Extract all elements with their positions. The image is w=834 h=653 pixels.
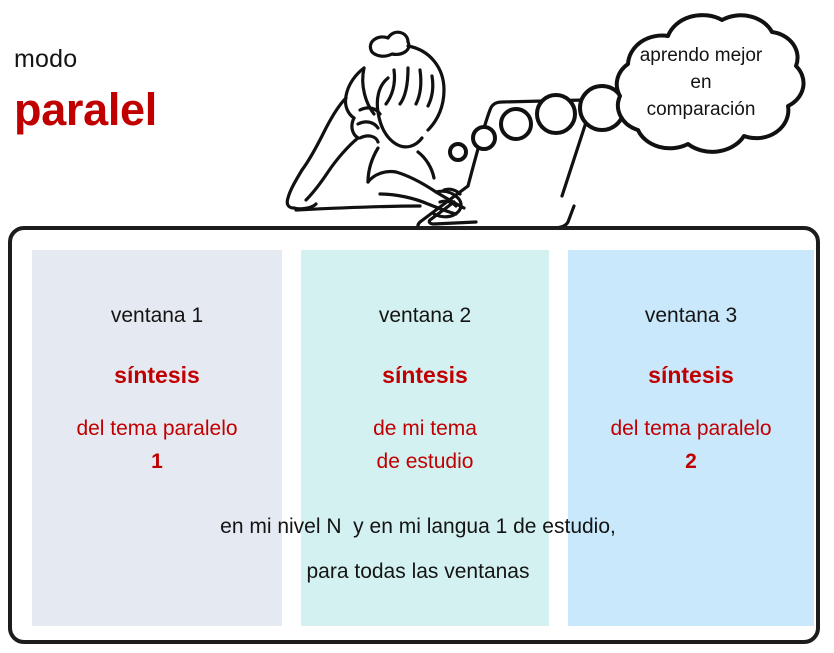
window-detail-3: del tema paralelo 2 <box>568 412 814 478</box>
thought-bubble-text: aprendo mejor en comparación <box>596 42 806 123</box>
window-detail-2-line-1: de mi tema <box>301 412 549 445</box>
title-line-paralel: paralel <box>14 84 274 136</box>
thought-bubble-line-3: comparación <box>596 96 806 123</box>
window-column-3[interactable]: ventana 3 síntesis del tema paralelo 2 <box>568 250 814 626</box>
window-column-1[interactable]: ventana 1 síntesis del tema paralelo 1 <box>32 250 282 626</box>
thought-dot-4 <box>537 95 575 133</box>
page-title: modo paralel <box>14 44 274 136</box>
window-detail-1-line-1: del tema paralelo <box>32 412 282 445</box>
window-column-2[interactable]: ventana 2 síntesis de mi tema de estudio <box>301 250 549 626</box>
window-detail-1-line-2: 1 <box>32 445 282 478</box>
sintesis-heading-3: síntesis <box>568 362 814 389</box>
window-label-3: ventana 3 <box>568 304 814 328</box>
sintesis-heading-1: síntesis <box>32 362 282 389</box>
thought-dot-2 <box>473 127 495 149</box>
thought-dot-1 <box>450 144 466 160</box>
windows-panel: ventana 1 síntesis del tema paralelo 1 v… <box>8 226 820 644</box>
window-detail-3-line-1: del tema paralelo <box>568 412 814 445</box>
thought-dot-3 <box>501 109 531 139</box>
thought-bubble-line-1: aprendo mejor <box>596 42 806 69</box>
thought-bubble-line-2: en <box>596 69 806 96</box>
thought-bubble: aprendo mejor en comparación <box>432 4 834 194</box>
sintesis-heading-2: síntesis <box>301 362 549 389</box>
window-label-2: ventana 2 <box>301 304 549 328</box>
window-detail-2-line-2: de estudio <box>301 445 549 478</box>
title-line-modo: modo <box>14 44 274 74</box>
window-detail-1: del tema paralelo 1 <box>32 412 282 478</box>
window-detail-3-line-2: 2 <box>568 445 814 478</box>
window-label-1: ventana 1 <box>32 304 282 328</box>
header-area: modo paralel <box>0 0 834 226</box>
window-detail-2: de mi tema de estudio <box>301 412 549 478</box>
